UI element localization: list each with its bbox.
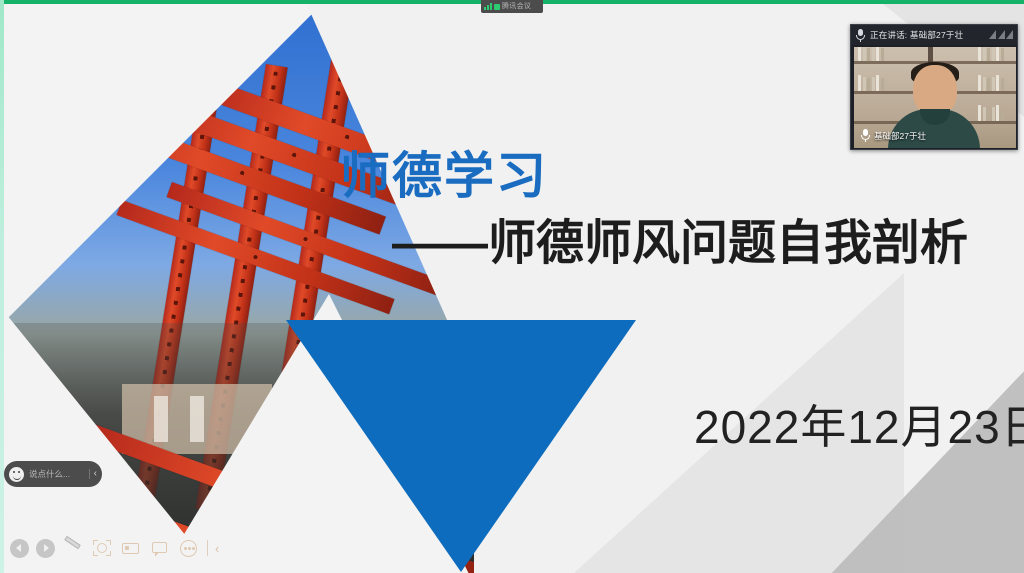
slide-title: 师德学习 (340, 151, 548, 201)
signal-strength-icon (989, 30, 1013, 39)
next-slide-button[interactable] (36, 539, 55, 558)
chevron-left-icon[interactable]: ‹ (215, 542, 219, 555)
photo-building-window (154, 396, 168, 442)
slide-date: 2022年12月23日 (694, 402, 1024, 453)
video-panel-header: 正在讲话: 基础部27于壮 (851, 25, 1017, 45)
active-speaker-label: 正在讲话: 基础部27于壮 (870, 25, 963, 45)
chat-bubble-icon[interactable] (149, 538, 171, 558)
background-books (978, 105, 1004, 121)
pen-icon[interactable] (62, 538, 84, 558)
background-books (978, 75, 1004, 91)
video-feed[interactable]: 基础部27于壮 (854, 47, 1016, 148)
signal-bars-icon (484, 3, 492, 10)
screen-share-border-left (0, 0, 4, 573)
participant-name-label: 基础部27于壮 (874, 130, 926, 142)
toolbar-divider (207, 540, 208, 556)
presentation-toolbar[interactable]: ‹ (4, 531, 224, 565)
video-name-tag: 基础部27于壮 (860, 129, 926, 142)
taskbar-app-label: 腾讯会议 (502, 0, 531, 13)
microphone-icon (860, 129, 871, 142)
taskbar-app-badge[interactable]: 腾讯会议 (481, 0, 543, 13)
background-books (978, 47, 1004, 61)
chevron-left-icon[interactable]: ‹ (89, 469, 97, 479)
person-head (913, 65, 957, 115)
chat-input[interactable]: 说点什么... (29, 468, 84, 480)
background-books (858, 47, 884, 61)
microphone-icon (855, 29, 866, 42)
emoji-smiley-icon[interactable] (9, 467, 24, 482)
slide-subtitle: ——师德师风问题自我剖析 (392, 218, 968, 271)
green-status-dot-icon (494, 4, 500, 10)
chat-input-bar[interactable]: 说点什么... ‹ (4, 461, 102, 487)
screen-icon[interactable] (120, 538, 142, 558)
previous-slide-button[interactable] (10, 539, 29, 558)
speaker-video-panel[interactable]: 正在讲话: 基础部27于壮 基础部27于壮 (850, 24, 1018, 150)
background-books (858, 75, 884, 91)
more-dots-icon[interactable] (178, 538, 200, 558)
photo-building-window (190, 396, 204, 442)
spotlight-focus-icon[interactable] (91, 538, 113, 558)
